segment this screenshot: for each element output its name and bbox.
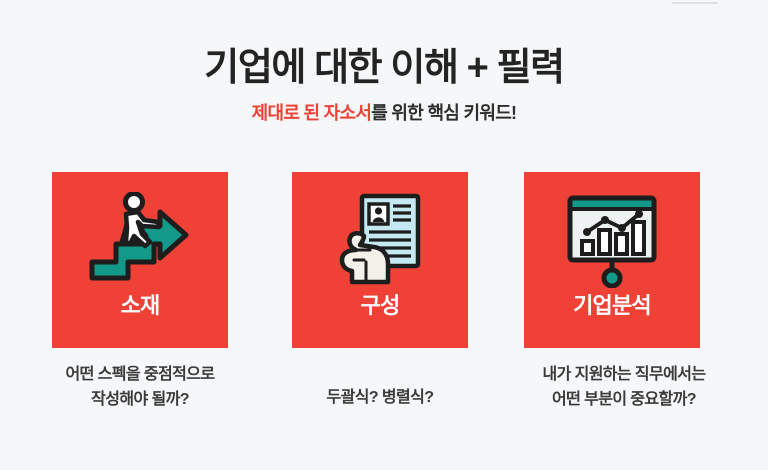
caption-guseong: 두괄식? 병렬식? [272,385,488,410]
caption-line: 두괄식? 병렬식? [272,385,488,410]
keyword-card-gieopbunseok[interactable]: 기업분석 [524,172,700,348]
caption-line: 내가 지원하는 직무에서는 [486,362,762,387]
caption-sojae: 어떤 스펙을 중점적으로 작성해야 될까? [8,362,272,412]
page-title: 기업에 대한 이해 + 필력 [0,44,768,92]
caption-line: 작성해야 될까? [8,387,272,412]
keyword-card-label: 소재 [121,292,160,320]
keyword-card-guseong[interactable]: 구성 [292,172,468,348]
person-climbing-stairs-arrow-icon [86,192,194,288]
subtitle-accent-text: 제대로 된 자소서 [252,103,372,123]
keyword-card-sojae[interactable]: 소재 [52,172,228,348]
caption-row: 어떤 스펙을 중점적으로 작성해야 될까? 두괄식? 병렬식? 내가 지원하는 … [0,362,768,432]
presentation-chart-board-icon [560,192,664,288]
heading-block: 기업에 대한 이해 + 필력 제대로 된 자소서를 위한 핵심 키워드! [0,44,768,125]
page-subtitle: 제대로 된 자소서를 위한 핵심 키워드! [0,101,768,125]
subtitle-rest-text: 를 위한 핵심 키워드! [371,103,516,123]
keyword-card-row: 소재 [0,172,768,348]
keyword-card-label: 기업분석 [573,292,651,320]
infographic-slide: 기업에 대한 이해 + 필력 제대로 된 자소서를 위한 핵심 키워드! [0,0,768,470]
keyword-card-label: 구성 [361,292,400,320]
hand-holding-resume-icon [330,192,430,288]
caption-line: 어떤 부분이 중요할까? [486,387,762,412]
caption-gieopbunseok: 내가 지원하는 직무에서는 어떤 부분이 중요할까? [486,362,762,412]
caption-line: 어떤 스펙을 중점적으로 [8,362,272,387]
top-divider-rule [672,2,718,4]
